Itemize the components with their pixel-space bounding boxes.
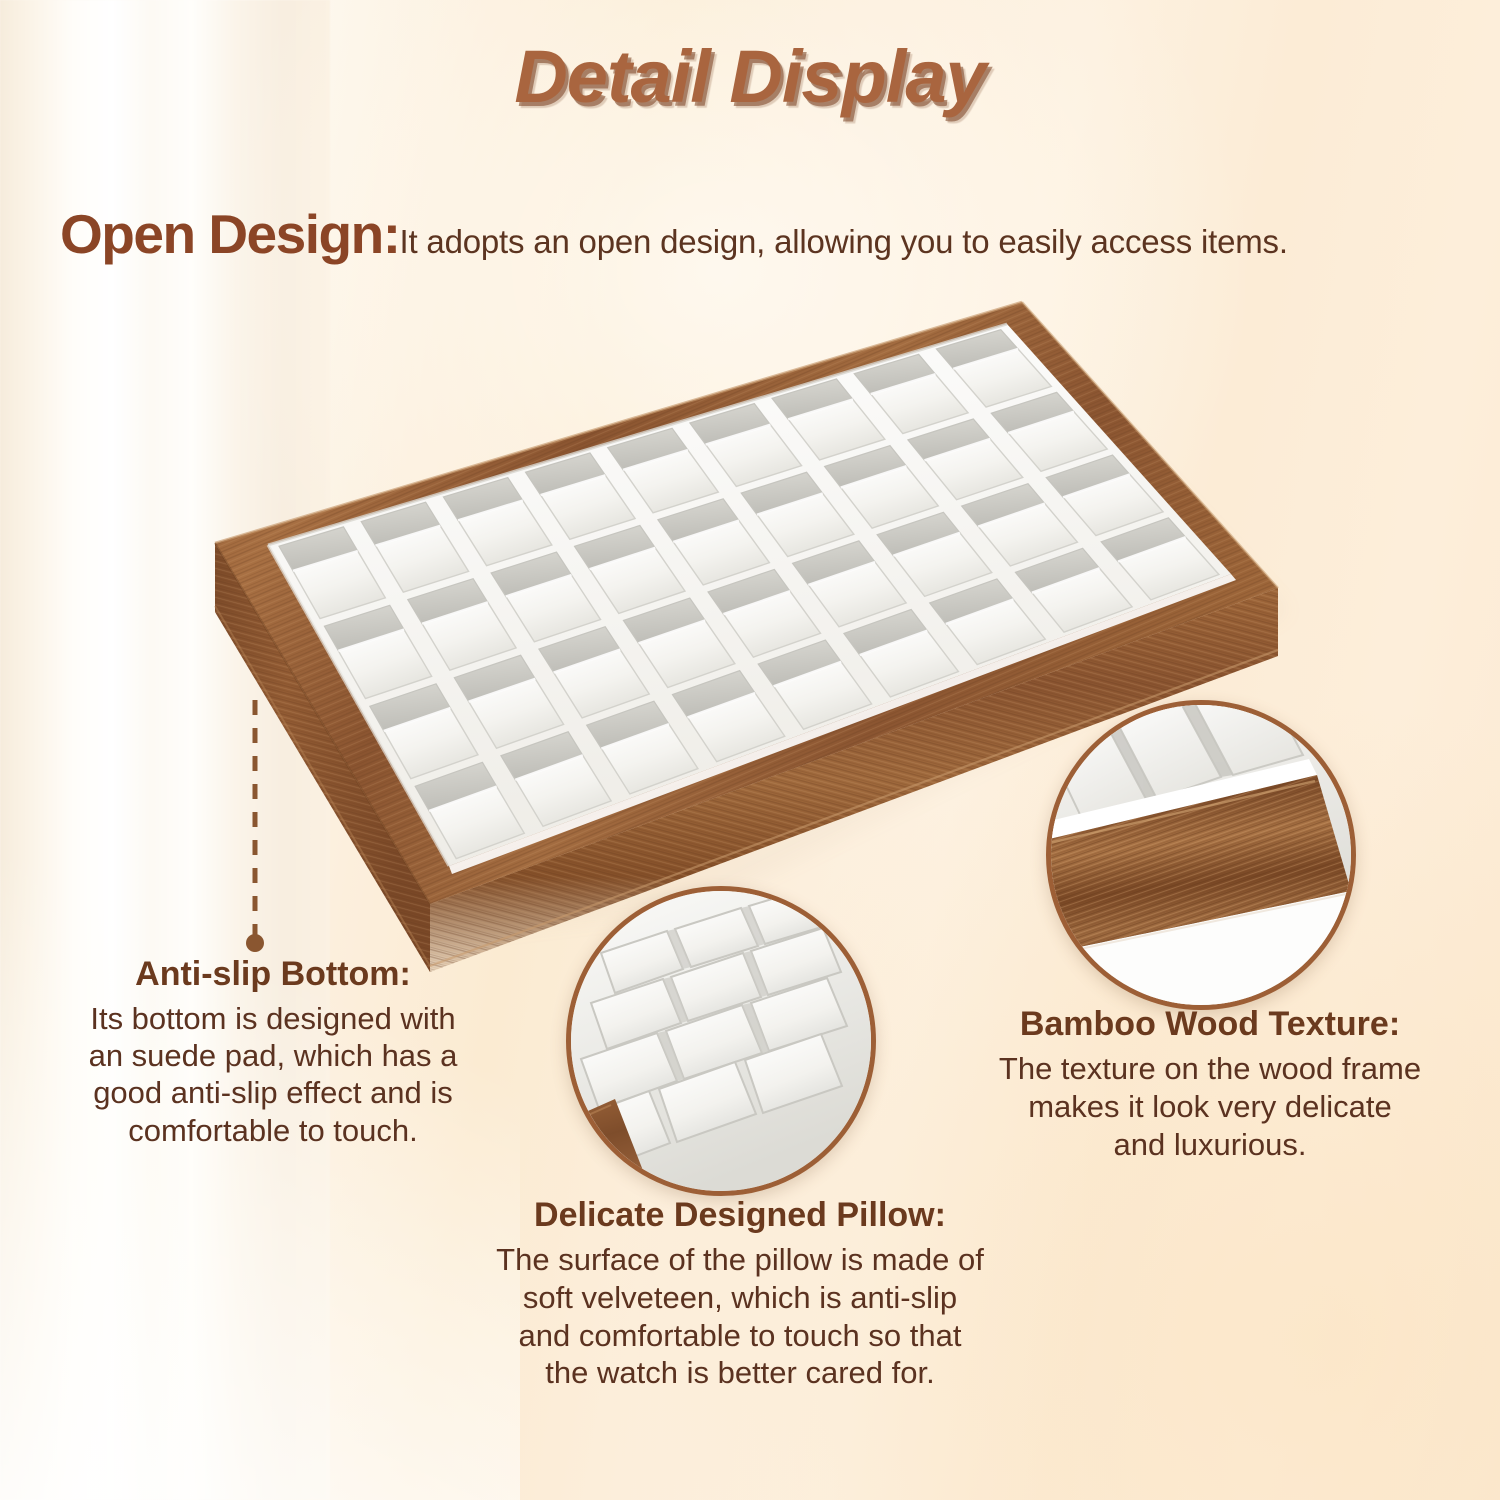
callout-line: and luxurious. <box>955 1126 1465 1164</box>
callout-delicate-designed-pillow: Delicate Designed Pillow: The surface of… <box>440 1196 1040 1392</box>
callout-body: The texture on the wood frame makes it l… <box>955 1050 1465 1163</box>
intro-line: Open Design:It adopts an open design, al… <box>60 207 1460 262</box>
callout-line: the watch is better cared for. <box>440 1354 1040 1392</box>
callout-anti-slip-bottom: Anti-slip Bottom: Its bottom is designed… <box>58 955 488 1149</box>
callout-heading: Anti-slip Bottom: <box>58 955 488 994</box>
callout-line: an suede pad, which has a <box>58 1037 488 1074</box>
callout-line: Its bottom is designed with <box>58 1000 488 1037</box>
pillow-closeup-circle <box>566 886 876 1196</box>
callout-line: good anti-slip effect and is <box>58 1074 488 1111</box>
callout-line: makes it look very delicate <box>955 1088 1465 1126</box>
callout-body: Its bottom is designed with an suede pad… <box>58 1000 488 1149</box>
callout-line: soft velveteen, which is anti-slip <box>440 1279 1040 1317</box>
wood-texture-closeup-circle <box>1046 700 1356 1010</box>
page-title: Detail Display <box>0 34 1500 119</box>
infographic-canvas: Detail Display Open Design:It adopts an … <box>0 0 1500 1500</box>
callout-line: and comfortable to touch so that <box>440 1317 1040 1355</box>
callout-line: comfortable to touch. <box>58 1112 488 1149</box>
intro-lead: Open Design: <box>60 203 400 265</box>
callout-heading: Delicate Designed Pillow: <box>440 1196 1040 1235</box>
callout-line: The surface of the pillow is made of <box>440 1241 1040 1279</box>
callout-heading: Bamboo Wood Texture: <box>955 1005 1465 1044</box>
anti-slip-leader-line <box>240 700 270 960</box>
callout-line: The texture on the wood frame <box>955 1050 1465 1088</box>
callout-bamboo-wood-texture: Bamboo Wood Texture: The texture on the … <box>955 1005 1465 1163</box>
intro-rest: It adopts an open design, allowing you t… <box>400 223 1288 260</box>
callout-body: The surface of the pillow is made of sof… <box>440 1241 1040 1392</box>
